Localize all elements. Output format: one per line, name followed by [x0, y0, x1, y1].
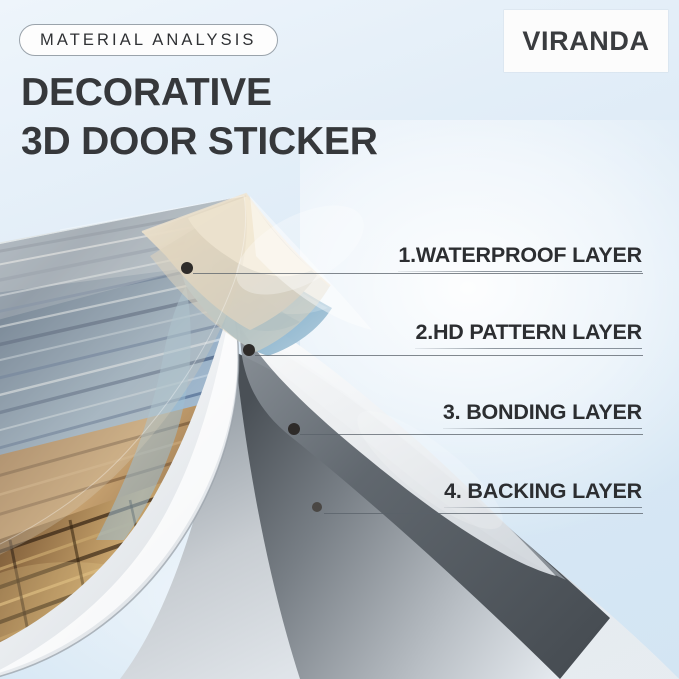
- callout-underline-3: [443, 428, 642, 429]
- callout-underline-4: [444, 507, 642, 508]
- page-title-line-2: 3D DOOR STICKER: [21, 122, 378, 161]
- brand-logo: VIRANDA: [504, 10, 668, 72]
- material-analysis-badge: MATERIAL ANALYSIS: [19, 24, 278, 56]
- callout-hd-pattern-layer: 2.HD PATTERN LAYER: [415, 320, 642, 349]
- callout-label-1: 1.WATERPROOF LAYER: [398, 243, 642, 268]
- callout-dot-4: [312, 502, 322, 512]
- peel-underside: [0, 302, 238, 679]
- callout-underline-2: [415, 348, 642, 349]
- waterproof-layer-shape: [142, 194, 318, 330]
- leader-line-2: [255, 355, 643, 356]
- leader-line-4: [324, 513, 643, 514]
- infographic-canvas: MATERIAL ANALYSIS DECORATIVE 3D DOOR STI…: [0, 0, 679, 679]
- beach-photo-panel: [0, 180, 280, 679]
- callout-underline-1: [398, 271, 642, 272]
- leader-line-1: [193, 273, 643, 274]
- brand-name: VIRANDA: [522, 26, 649, 57]
- callout-backing-layer: 4. BACKING LAYER: [444, 479, 642, 508]
- callout-bonding-layer: 3. BONDING LAYER: [443, 400, 642, 429]
- badge-label: MATERIAL ANALYSIS: [40, 31, 257, 50]
- leader-line-3: [300, 434, 643, 435]
- callout-dot-1: [181, 262, 193, 274]
- callout-label-3: 3. BONDING LAYER: [443, 400, 642, 425]
- callout-dot-3: [288, 423, 300, 435]
- page-title-line-1: DECORATIVE: [21, 73, 272, 112]
- callout-waterproof-layer: 1.WATERPROOF LAYER: [398, 243, 642, 272]
- callout-dot-2: [243, 344, 255, 356]
- callout-label-2: 2.HD PATTERN LAYER: [415, 320, 642, 345]
- callout-label-4: 4. BACKING LAYER: [444, 479, 642, 504]
- background-glow-secondary: [0, 430, 460, 679]
- hd-pattern-layer-shape: [181, 214, 332, 356]
